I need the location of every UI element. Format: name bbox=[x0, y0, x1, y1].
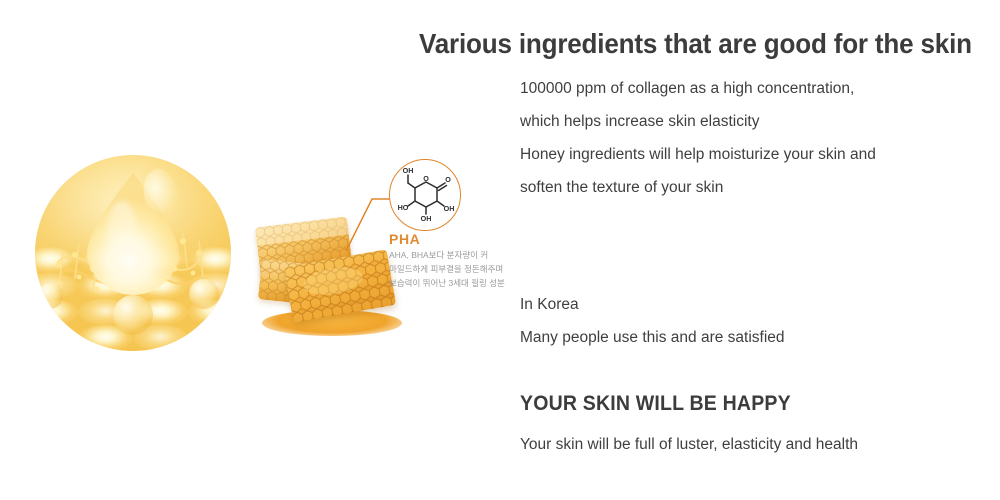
korea-paragraph: In Korea Many people use this and are sa… bbox=[520, 288, 785, 354]
closing-paragraph: Your skin will be full of luster, elasti… bbox=[520, 428, 858, 461]
intro-paragraph: 100000 ppm of collagen as a high concent… bbox=[520, 72, 876, 204]
page-headline: Various ingredients that are good for th… bbox=[419, 28, 972, 60]
section-subheading: YOUR SKIN WILL BE HAPPY bbox=[520, 392, 791, 416]
marketing-copy-panel: Various ingredients that are good for th… bbox=[0, 0, 1000, 500]
